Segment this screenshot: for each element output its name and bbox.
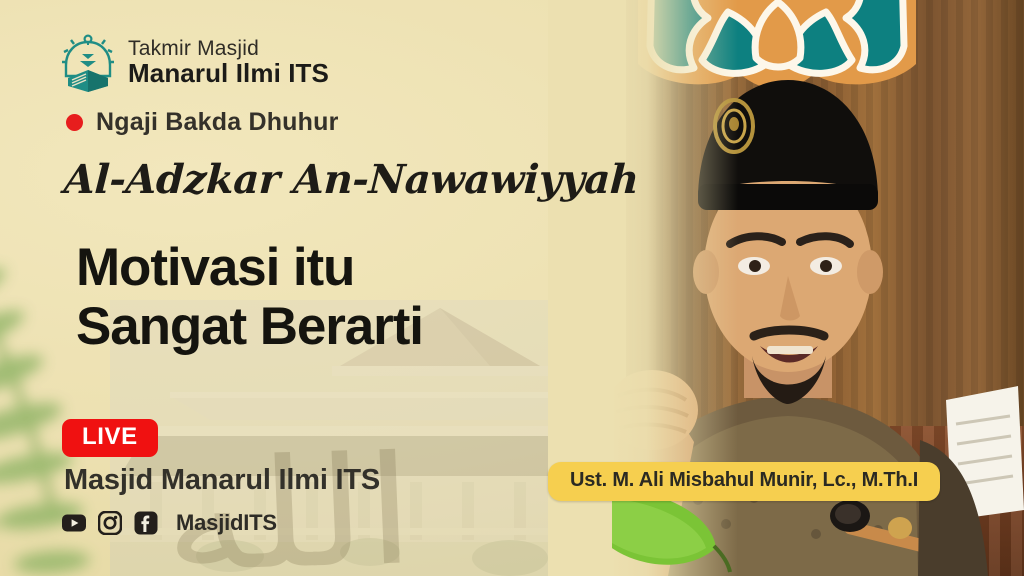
status-badge: LIVE (62, 419, 158, 457)
brand-line-2: Manarul Ilmi ITS (128, 60, 329, 88)
social-handle: MasjidITS (176, 510, 277, 536)
instagram-icon[interactable] (98, 511, 122, 535)
kicker-row: Ngaji Bakda Dhuhur (66, 108, 339, 137)
headline-line-1: Motivasi itu (76, 238, 423, 297)
speaker-name-banner: Ust. M. Ali Misbahul Munir, Lc., M.Th.I (548, 462, 940, 501)
series-title: Al-Adzkar An-Nawawiyyah (63, 156, 640, 203)
facebook-icon[interactable] (134, 511, 158, 535)
livestream-thumbnail: الله (0, 0, 1024, 576)
headline-line-2: Sangat Berarti (76, 297, 423, 356)
mosque-dome-book-gear-logo (62, 34, 114, 92)
brand-lockup: Takmir Masjid Manarul Ilmi ITS (62, 34, 329, 92)
kicker-label: Ngaji Bakda Dhuhur (96, 108, 339, 137)
page-title: Motivasi itu Sangat Berarti (76, 238, 423, 357)
masjid-name: Masjid Manarul Ilmi ITS (64, 464, 380, 497)
social-row: MasjidITS (62, 510, 277, 536)
youtube-icon[interactable] (62, 511, 86, 535)
live-red-dot (66, 114, 83, 131)
brand-line-1: Takmir Masjid (128, 38, 329, 60)
